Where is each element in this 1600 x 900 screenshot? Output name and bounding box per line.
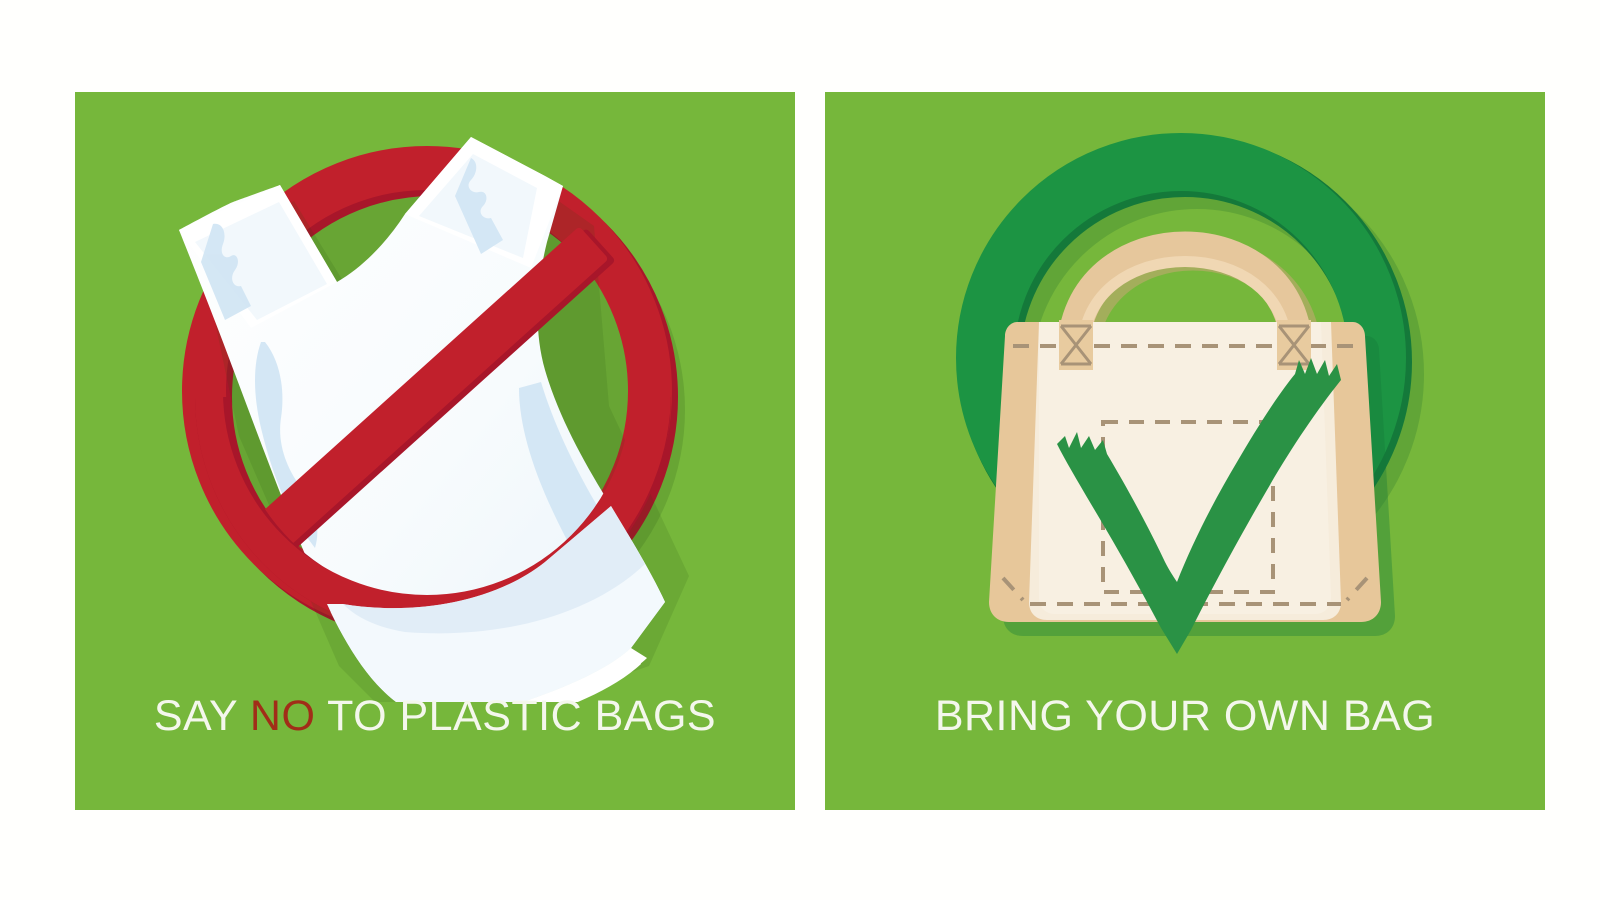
tote-bag-body xyxy=(989,320,1395,654)
caption-bring-your-own-bag: BRING YOUR OWN BAG xyxy=(825,692,1545,741)
panel-bring-your-own-bag[interactable]: BRING YOUR OWN BAG xyxy=(825,92,1545,810)
illustration-reusable-tote-bag xyxy=(825,92,1545,702)
caption-no-plastic-bags: SAY NO TO PLASTIC BAGS xyxy=(75,692,795,741)
illustration-plastic-bag-prohibited xyxy=(75,92,795,702)
panel-no-plastic-bags[interactable]: SAY NO TO PLASTIC BAGS xyxy=(75,92,795,810)
caption-part-0: BRING YOUR OWN BAG xyxy=(935,692,1435,740)
caption-part-0: SAY xyxy=(154,692,250,740)
caption-part-accent: NO xyxy=(250,692,316,740)
poster-canvas: SAY NO TO PLASTIC BAGS xyxy=(0,0,1600,900)
caption-part-2: TO PLASTIC BAGS xyxy=(315,692,716,740)
